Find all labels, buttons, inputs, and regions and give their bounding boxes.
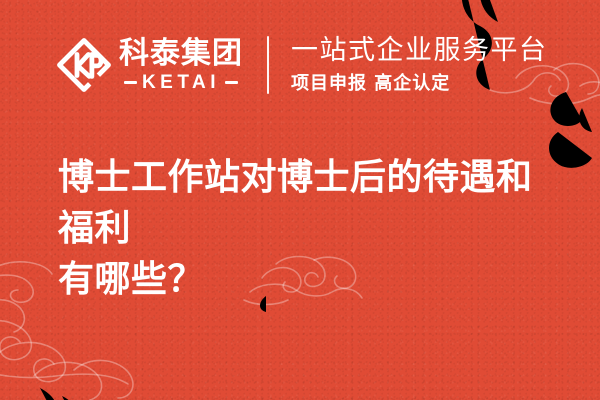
headline-line-2: 有哪些？ (58, 254, 558, 305)
brand-name-cn: 科泰集团 (119, 38, 243, 70)
vertical-divider (267, 36, 269, 94)
brand-name-latin-row: KETAI (124, 73, 238, 92)
page-title: 博士工作站对博士后的待遇和福利 有哪些？ (58, 152, 558, 305)
dash-left-icon (124, 81, 137, 84)
kp-diamond-logo-icon (56, 37, 112, 93)
promo-banner: 科泰集团 KETAI 一站式企业服务平台 项目申报 高企认定 博士工作站对博士后… (0, 0, 600, 400)
brand-logo: 科泰集团 KETAI (56, 37, 243, 93)
headline-line-1: 博士工作站对博士后的待遇和福利 (58, 152, 558, 254)
brand-wordmark: 科泰集团 KETAI (119, 38, 243, 92)
tagline-main: 一站式企业服务平台 (291, 36, 548, 66)
brand-name-en: KETAI (142, 73, 220, 92)
tagline-sub: 项目申报 高企认定 (291, 74, 548, 94)
dash-right-icon (225, 81, 238, 84)
banner-header: 科泰集团 KETAI 一站式企业服务平台 项目申报 高企认定 (56, 36, 548, 94)
tagline-block: 一站式企业服务平台 项目申报 高企认定 (291, 36, 548, 93)
